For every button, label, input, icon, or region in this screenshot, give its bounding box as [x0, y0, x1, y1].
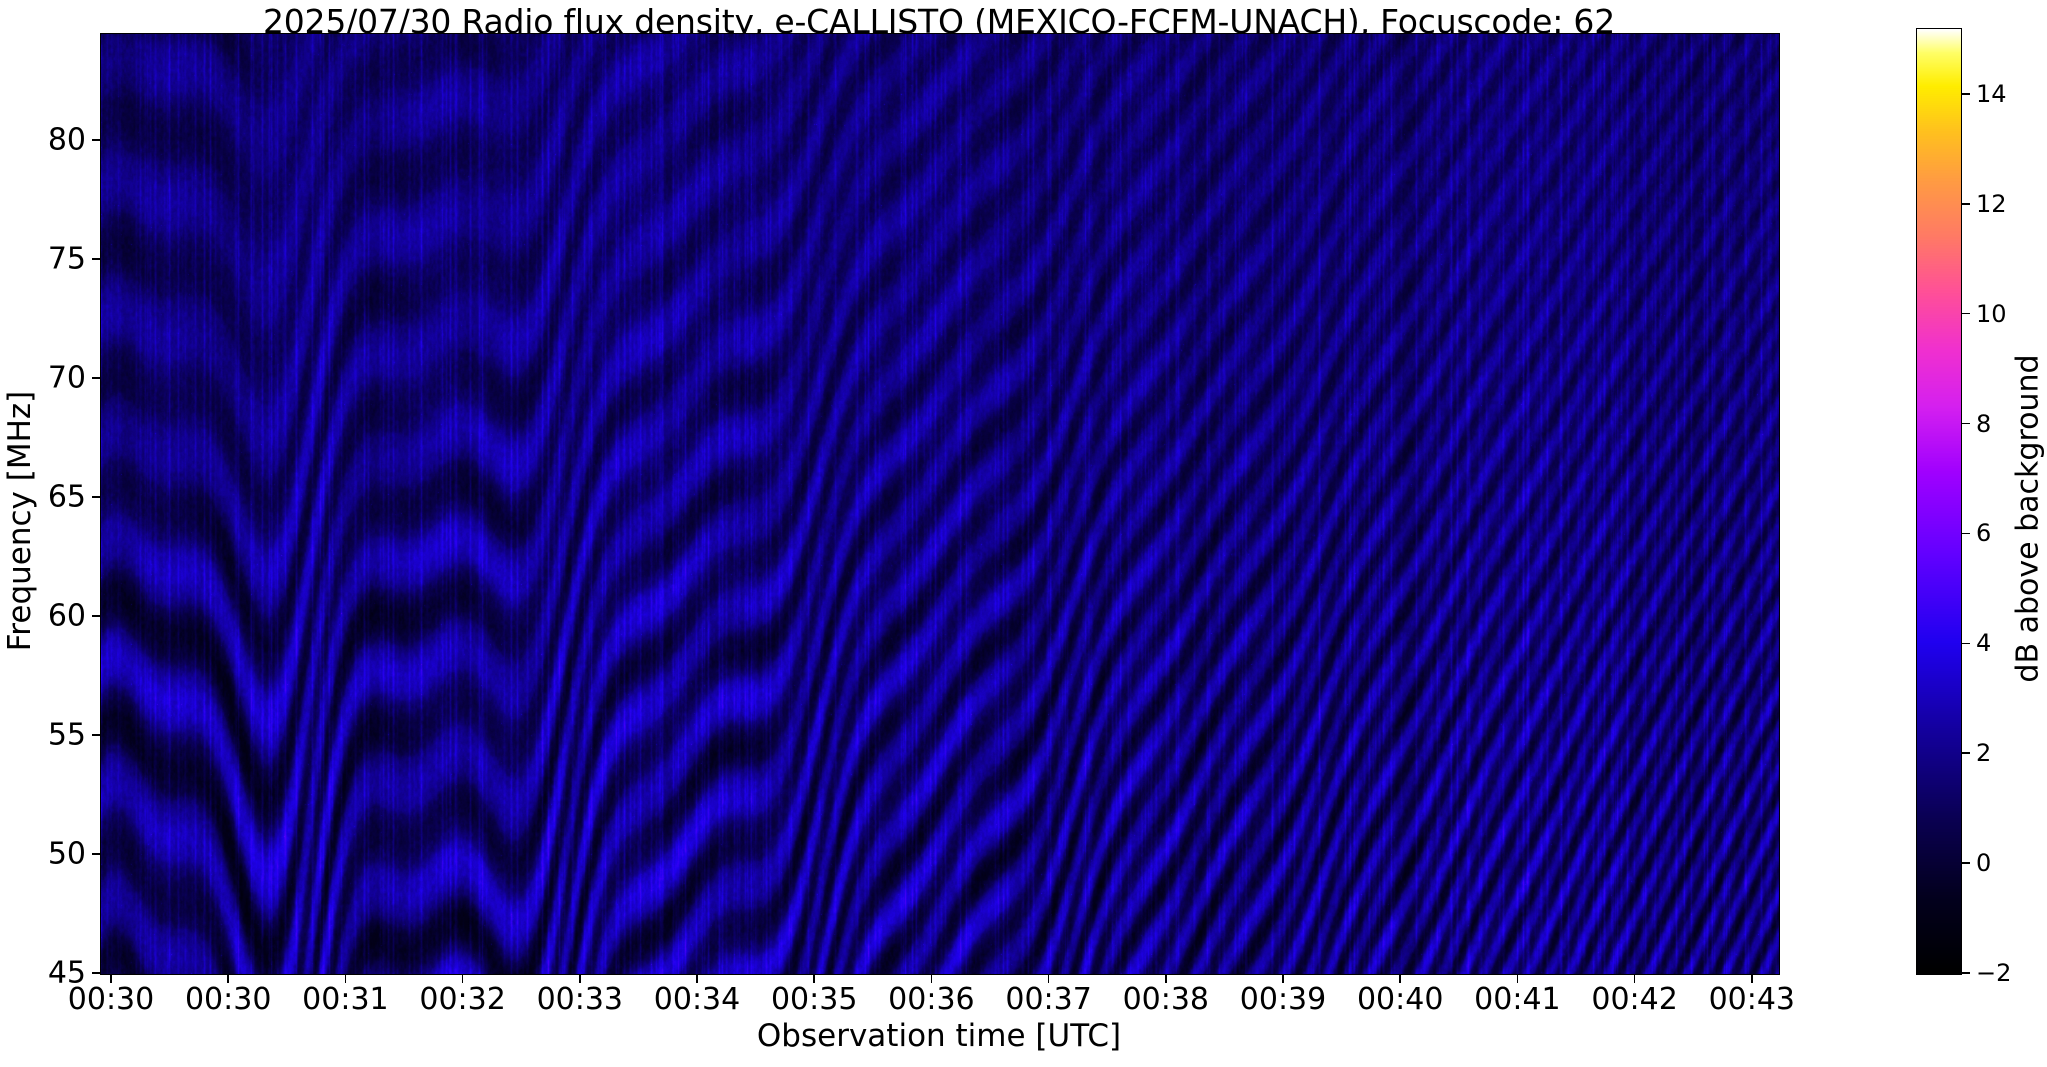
- x-tick-mark: [931, 975, 933, 983]
- colorbar-tick-label: 10: [1976, 300, 2007, 328]
- y-tick-mark: [92, 377, 100, 379]
- colorbar-tick-mark: [1962, 423, 1970, 425]
- spectrogram-image: [101, 34, 1779, 974]
- x-tick-label: 00:40: [1357, 982, 1443, 1017]
- spectrogram-plot-area: [100, 33, 1780, 975]
- y-tick-label: 80: [0, 123, 86, 158]
- colorbar-gradient: [1917, 29, 1961, 974]
- x-tick-label: 00:30: [185, 982, 271, 1017]
- x-tick-mark: [462, 975, 464, 983]
- colorbar-tick-label: 2: [1976, 739, 1991, 767]
- y-tick-mark: [92, 615, 100, 617]
- x-tick-mark: [1751, 975, 1753, 983]
- colorbar-tick-mark: [1962, 533, 1970, 535]
- colorbar-tick-label: 6: [1976, 519, 1991, 547]
- colorbar-tick-label: 4: [1976, 629, 1991, 657]
- x-tick-label: 00:35: [771, 982, 857, 1017]
- colorbar-label: dB above background: [2011, 239, 2046, 799]
- x-tick-mark: [1517, 975, 1519, 983]
- y-tick-label: 50: [0, 837, 86, 872]
- x-tick-label: 00:41: [1474, 982, 1560, 1017]
- x-tick-mark: [1634, 975, 1636, 983]
- x-tick-mark: [227, 975, 229, 983]
- x-tick-label: 00:30: [68, 982, 154, 1017]
- colorbar-tick-mark: [1962, 862, 1970, 864]
- colorbar-tick-mark: [1962, 313, 1970, 315]
- colorbar-tick-mark: [1962, 93, 1970, 95]
- colorbar-tick-label: 0: [1976, 849, 1991, 877]
- x-tick-label: 00:33: [537, 982, 623, 1017]
- colorbar-tick-label: 12: [1976, 190, 2007, 218]
- y-tick-label: 75: [0, 242, 86, 277]
- y-tick-label: 60: [0, 599, 86, 634]
- x-tick-label: 00:42: [1591, 982, 1677, 1017]
- x-tick-label: 00:39: [1240, 982, 1326, 1017]
- y-tick-mark: [92, 139, 100, 141]
- x-tick-mark: [696, 975, 698, 983]
- colorbar-tick-label: −2: [1976, 959, 2011, 987]
- x-tick-mark: [1165, 975, 1167, 983]
- y-tick-mark: [92, 496, 100, 498]
- y-tick-label: 65: [0, 480, 86, 515]
- y-tick-mark: [92, 734, 100, 736]
- y-tick-label: 55: [0, 718, 86, 753]
- colorbar-tick-mark: [1962, 643, 1970, 645]
- x-tick-label: 00:37: [1005, 982, 1091, 1017]
- y-tick-mark: [92, 972, 100, 974]
- x-tick-mark: [813, 975, 815, 983]
- x-tick-label: 00:34: [654, 982, 740, 1017]
- x-tick-mark: [1399, 975, 1401, 983]
- y-tick-label: 70: [0, 361, 86, 396]
- spectrogram-figure: 2025/07/30 Radio flux density, e-CALLIST…: [0, 0, 2047, 1067]
- colorbar: [1916, 28, 1962, 975]
- x-tick-mark: [345, 975, 347, 983]
- x-tick-mark: [110, 975, 112, 983]
- x-tick-mark: [1048, 975, 1050, 983]
- x-tick-label: 00:31: [302, 982, 388, 1017]
- x-tick-mark: [1282, 975, 1284, 983]
- x-tick-label: 00:43: [1709, 982, 1795, 1017]
- x-tick-label: 00:36: [888, 982, 974, 1017]
- x-tick-mark: [579, 975, 581, 983]
- colorbar-tick-label: 14: [1976, 80, 2007, 108]
- x-tick-label: 00:32: [419, 982, 505, 1017]
- x-tick-label: 00:38: [1123, 982, 1209, 1017]
- colorbar-tick-mark: [1962, 752, 1970, 754]
- y-tick-mark: [92, 853, 100, 855]
- colorbar-tick-mark: [1962, 203, 1970, 205]
- colorbar-tick-label: 8: [1976, 410, 1991, 438]
- y-tick-mark: [92, 258, 100, 260]
- x-axis-label: Observation time [UTC]: [100, 1018, 1778, 1054]
- colorbar-tick-mark: [1962, 972, 1970, 974]
